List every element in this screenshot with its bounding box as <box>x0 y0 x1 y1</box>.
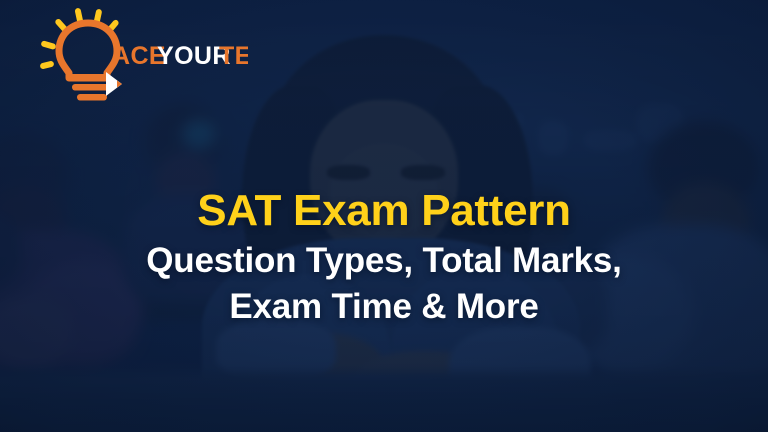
aceyourtest-logo[interactable]: ACE YOUR TEST <box>18 6 248 104</box>
logo-word-test: TEST <box>219 42 248 70</box>
lightbulb-icon <box>59 23 117 78</box>
lightbulb-rays-icon <box>39 8 119 70</box>
pencil-tip-icon <box>106 72 122 96</box>
headline-block: SAT Exam Pattern Question Types, Total M… <box>0 186 768 328</box>
subtitle-line-1: Question Types, Total Marks, <box>24 239 744 282</box>
promo-banner: ACE YOUR TEST SAT Exam Pattern Question … <box>0 0 768 432</box>
logo-wordmark: ACE YOUR TEST <box>112 42 248 70</box>
page-title: SAT Exam Pattern <box>24 186 744 236</box>
bulb-base-icon <box>69 74 109 101</box>
subtitle-line-2: Exam Time & More <box>24 285 744 328</box>
